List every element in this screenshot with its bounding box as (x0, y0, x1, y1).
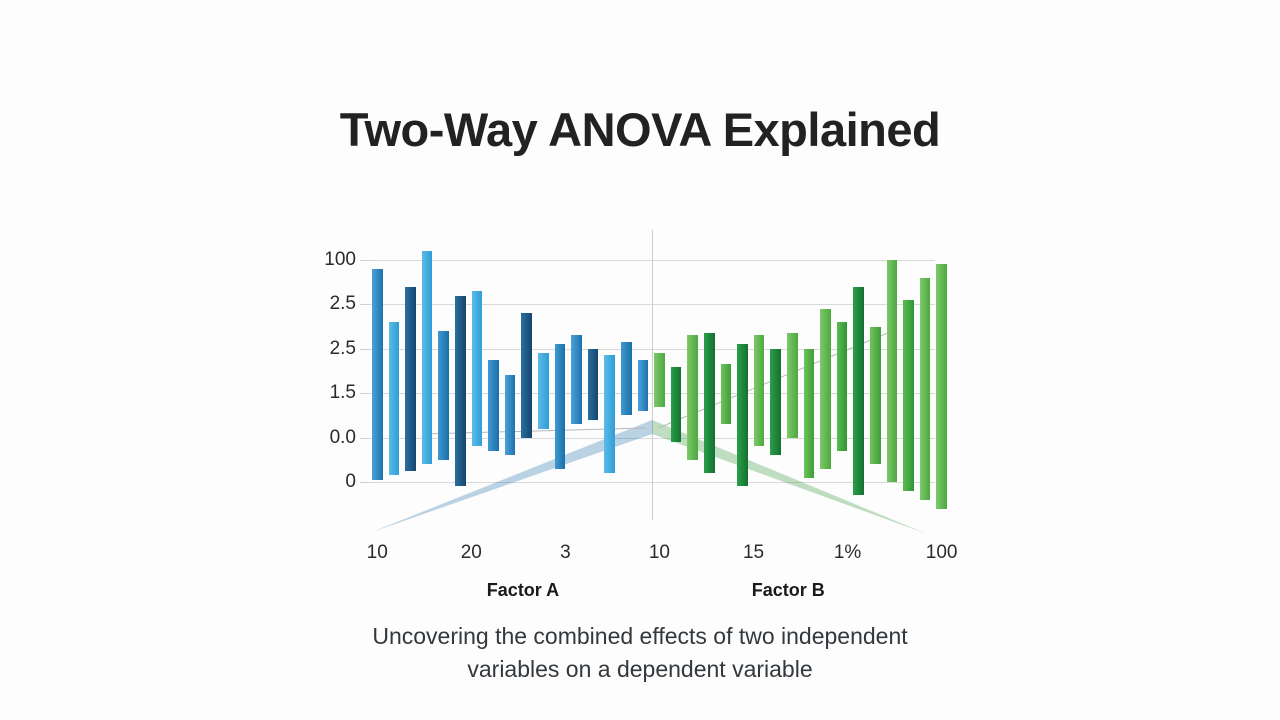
x-axis-tick-label: 10 (649, 542, 670, 564)
bar-green-7 (754, 335, 765, 446)
bar-blue-12 (555, 344, 566, 468)
bar-green-9 (787, 333, 798, 437)
bar-green-12 (837, 322, 848, 451)
bar-blue-17 (638, 360, 649, 411)
bar-blue-16 (621, 342, 632, 415)
subtitle-line-2: variables on a dependent variable (0, 653, 1280, 686)
bar-blue-9 (505, 375, 516, 455)
slide-canvas: Two-Way ANOVA Explained 1002.52.51.50.00… (0, 0, 1280, 720)
bar-blue-7 (472, 291, 483, 446)
bar-green-1 (654, 353, 665, 406)
y-axis-tick-label: 1.5 (330, 382, 370, 404)
x-axis-tick-label: 15 (743, 542, 764, 564)
bar-green-18 (936, 264, 947, 508)
x-axis-tick-label: 10 (367, 542, 388, 564)
bar-green-11 (820, 309, 831, 469)
bar-green-17 (920, 278, 931, 500)
y-axis-tick-label: 100 (324, 249, 370, 271)
chart-container: 1002.52.51.50.001020310151%100Factor AFa… (310, 240, 950, 540)
bar-green-14 (870, 327, 881, 465)
bar-green-10 (804, 349, 815, 478)
bar-green-3 (687, 335, 698, 459)
x-axis-tick-label: 100 (926, 542, 958, 564)
bar-green-15 (887, 260, 898, 482)
x-axis-tick-label: 1% (834, 542, 861, 564)
bar-blue-8 (488, 360, 499, 451)
bar-blue-13 (571, 335, 582, 424)
bar-blue-3 (405, 287, 416, 471)
bar-blue-11 (538, 353, 549, 428)
bar-green-16 (903, 300, 914, 491)
bar-blue-1 (372, 269, 383, 480)
bar-blue-10 (521, 313, 532, 437)
bar-blue-14 (588, 349, 599, 420)
bar-green-5 (721, 364, 732, 424)
group-label-factor-a: Factor A (487, 580, 559, 601)
bar-green-6 (737, 344, 748, 486)
bar-blue-15 (604, 355, 615, 473)
bar-green-13 (853, 287, 864, 496)
page-subtitle: Uncovering the combined effects of two i… (0, 620, 1280, 685)
x-axis-tick-label: 20 (461, 542, 482, 564)
y-axis-tick-label: 2.5 (330, 338, 370, 360)
y-axis-tick-label: 2.5 (330, 293, 370, 315)
bar-green-4 (704, 333, 715, 473)
page-title: Two-Way ANOVA Explained (0, 104, 1280, 156)
y-axis-tick-label: 0.0 (330, 427, 370, 449)
bar-green-8 (770, 349, 781, 456)
bar-blue-4 (422, 251, 433, 464)
bar-blue-2 (389, 322, 400, 475)
center-axis-line (652, 230, 653, 520)
bar-green-2 (671, 367, 682, 442)
x-axis-tick-label: 3 (560, 542, 571, 564)
bar-blue-5 (438, 331, 449, 460)
bar-blue-6 (455, 296, 466, 487)
group-label-factor-b: Factor B (752, 580, 825, 601)
subtitle-line-1: Uncovering the combined effects of two i… (0, 620, 1280, 653)
y-axis-tick-label: 0 (345, 471, 370, 493)
chart-plot-area: 1002.52.51.50.001020310151%100Factor AFa… (370, 250, 935, 535)
